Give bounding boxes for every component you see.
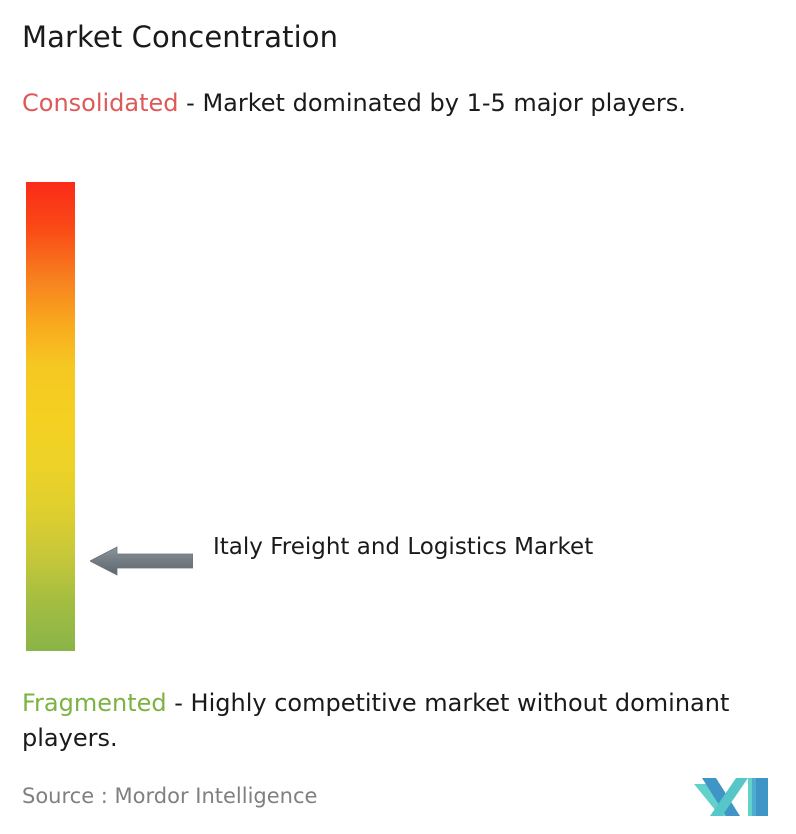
legend-consolidated-description: - Market dominated by 1-5 major players. (179, 89, 686, 117)
legend-consolidated: Consolidated - Market dominated by 1-5 m… (22, 86, 782, 121)
market-position-arrow (90, 544, 193, 578)
market-position-label: Italy Freight and Logistics Market (213, 530, 633, 564)
page-title: Market Concentration (22, 20, 338, 54)
legend-fragmented-term: Fragmented (22, 689, 167, 717)
left-arrow-icon (90, 547, 193, 575)
mi-logo-icon (694, 778, 768, 816)
legend-consolidated-term: Consolidated (22, 89, 179, 117)
market-concentration-chart: Market Concentration Consolidated - Mark… (0, 0, 796, 834)
concentration-gradient-bar (26, 182, 75, 651)
mordor-intelligence-logo (692, 772, 774, 818)
legend-fragmented: Fragmented - Highly competitive market w… (22, 686, 790, 756)
source-attribution: Source : Mordor Intelligence (22, 783, 317, 809)
